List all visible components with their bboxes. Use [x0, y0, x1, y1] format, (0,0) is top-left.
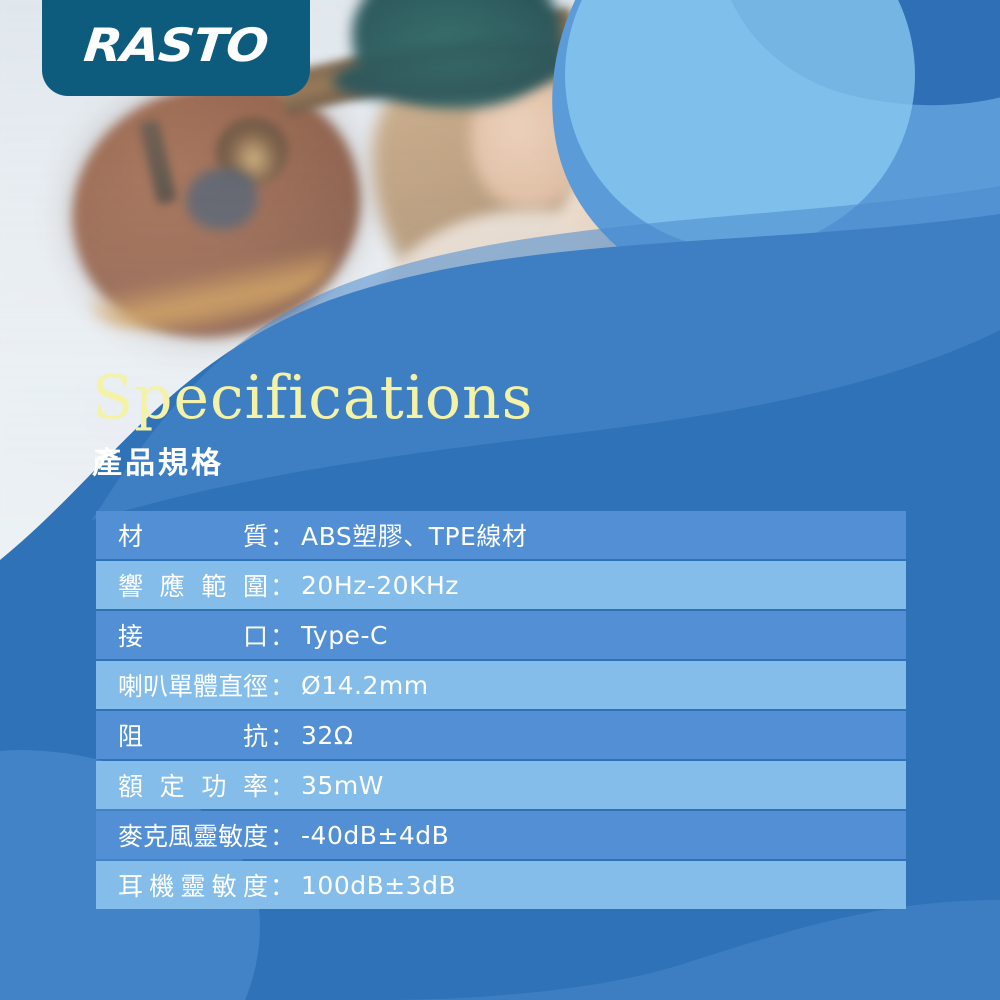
spec-separator: ：	[268, 717, 297, 753]
spec-value: 32Ω	[297, 721, 353, 750]
spec-label: 額定功率	[118, 767, 268, 803]
brand-logo-text: RASTO	[82, 18, 271, 72]
spec-row: 耳機靈敏度：100dB±3dB	[96, 861, 906, 909]
spec-label: 喇叭單體直徑	[118, 667, 268, 703]
spec-label: 耳機靈敏度	[118, 867, 268, 903]
spec-separator: ：	[268, 867, 297, 903]
spec-label: 麥克風靈敏度	[118, 817, 268, 853]
spec-row: 麥克風靈敏度：-40dB±4dB	[96, 811, 906, 859]
spec-separator: ：	[268, 667, 297, 703]
spec-separator: ：	[268, 517, 297, 553]
spec-row: 材質：ABS塑膠、TPE線材	[96, 511, 906, 559]
spec-row: 響應範圍：20Hz-20KHz	[96, 561, 906, 609]
spec-value: 35mW	[297, 771, 384, 800]
product-spec-page: RASTO Specifications 產品規格 材質：ABS塑膠、TPE線材…	[0, 0, 1000, 1000]
spec-separator: ：	[268, 817, 297, 853]
spec-separator: ：	[268, 767, 297, 803]
spec-row: 額定功率：35mW	[96, 761, 906, 809]
spec-value: ABS塑膠、TPE線材	[297, 517, 527, 553]
spec-separator: ：	[268, 617, 297, 653]
spec-label: 阻抗	[118, 717, 268, 753]
spec-value: Type-C	[297, 621, 388, 650]
spec-value: Ø14.2mm	[297, 671, 429, 700]
page-title-zh: 產品規格	[92, 438, 533, 482]
spec-label: 材質	[118, 517, 268, 553]
spec-row: 喇叭單體直徑：Ø14.2mm	[96, 661, 906, 709]
spec-separator: ：	[268, 567, 297, 603]
spec-value: 20Hz-20KHz	[297, 571, 459, 600]
spec-row: 阻抗：32Ω	[96, 711, 906, 759]
spec-label: 響應範圍	[118, 567, 268, 603]
spec-value: -40dB±4dB	[297, 821, 449, 850]
spec-row: 接口：Type-C	[96, 611, 906, 659]
page-title-en: Specifications	[92, 368, 533, 428]
spec-label: 接口	[118, 617, 268, 653]
page-title-block: Specifications 產品規格	[92, 368, 533, 482]
spec-value: 100dB±3dB	[297, 871, 456, 900]
brand-logo: RASTO	[42, 0, 310, 96]
specifications-table: 材質：ABS塑膠、TPE線材響應範圍：20Hz-20KHz接口：Type-C喇叭…	[96, 511, 906, 911]
